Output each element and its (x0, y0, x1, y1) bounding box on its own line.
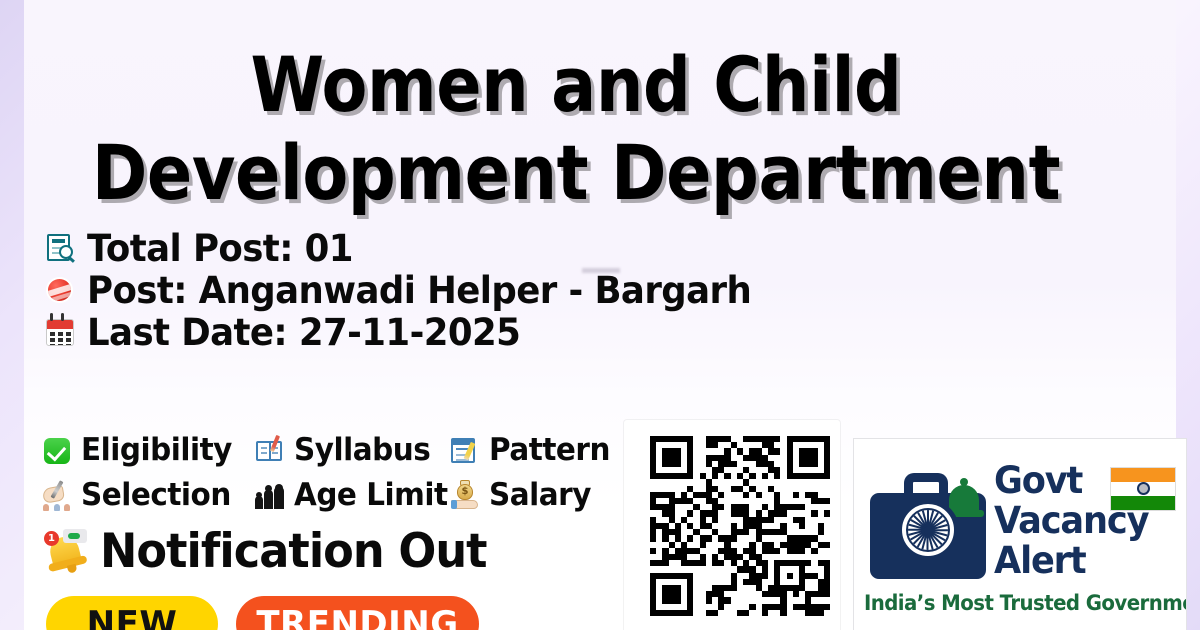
open-book-icon (255, 436, 285, 466)
feature-salary: Salary (450, 475, 616, 516)
india-flag-icon (1110, 467, 1176, 511)
feature-label-pattern: Pattern (489, 435, 610, 466)
detail-text-total-post: Total Post: 01 (87, 230, 353, 267)
feature-label-age-limit: Age Limit (294, 480, 448, 511)
detail-row-total-post: Total Post: 01 (44, 228, 779, 268)
feature-eligibility: Eligibility (42, 430, 255, 471)
status-badge-new: NEW (46, 596, 218, 630)
brand-logo-panel: Govt Vacancy Alert India’s Most Trusted … (853, 438, 1187, 630)
feature-grid: Eligibility Syllabus Pattern Selection (42, 430, 616, 516)
status-badges: NEW TRENDING (46, 596, 479, 630)
family-group-icon (255, 481, 285, 511)
status-badge-trending: TRENDING (236, 596, 479, 630)
green-check-icon (42, 436, 72, 466)
detail-text-post: Post: Anganwadi Helper - Bargarh (87, 272, 751, 309)
detail-text-last-date: Last Date: 27-11-2025 (87, 314, 520, 351)
poster-root: Women and Child Development Department T… (0, 0, 1200, 630)
feature-label-syllabus: Syllabus (294, 435, 430, 466)
qr-code[interactable] (650, 436, 830, 616)
detail-row-last-date: Last Date: 27-11-2025 (44, 312, 779, 352)
job-details-list: Total Post: 01 Post: Anganwadi Helper - … (44, 228, 779, 354)
brand-line-3: Alert (994, 541, 1169, 581)
bell-notification-icon: 1 (44, 529, 88, 575)
feature-age-limit: Age Limit (255, 475, 450, 516)
writing-hand-icon (42, 481, 72, 511)
exam-paper-icon (450, 436, 480, 466)
detail-row-post: Post: Anganwadi Helper - Bargarh (44, 270, 779, 310)
feature-label-salary: Salary (489, 480, 591, 511)
title-line-2: Development Department (69, 136, 1083, 210)
notification-text: Notification Out (100, 528, 487, 575)
feature-syllabus: Syllabus (255, 430, 450, 471)
feature-label-eligibility: Eligibility (81, 435, 232, 466)
feature-selection: Selection (42, 475, 255, 516)
briefcase-chakra-bell-icon (868, 469, 990, 581)
brand-tagline: India’s Most Trusted Government Job Aler… (864, 591, 1176, 615)
job-document-search-icon (44, 232, 76, 264)
bell-badge-count: 1 (44, 531, 59, 546)
money-bag-icon (450, 481, 480, 511)
logo-row: Govt Vacancy Alert (868, 461, 1178, 587)
page-title: Women and Child Development Department (0, 48, 1152, 211)
qr-code-panel[interactable] (624, 420, 840, 630)
title-line-1: Women and Child (69, 48, 1083, 122)
notification-headline: 1 Notification Out (44, 528, 507, 575)
feature-pattern: Pattern (450, 430, 616, 471)
calendar-icon (44, 316, 76, 348)
ashoka-chakra-icon (897, 499, 959, 561)
hot-announcement-icon (44, 274, 76, 306)
feature-label-selection: Selection (81, 480, 231, 511)
